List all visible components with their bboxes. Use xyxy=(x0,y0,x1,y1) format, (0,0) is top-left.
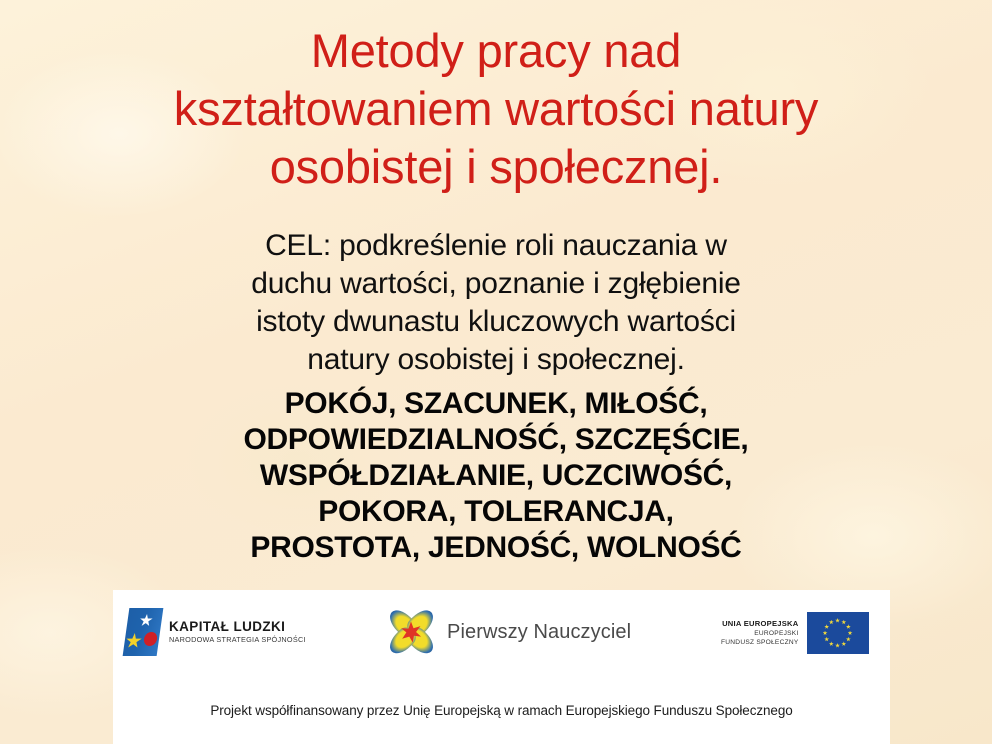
unia-europejska-logo: UNIA EUROPEJSKA EUROPEJSKI FUNDUSZ SPOŁE… xyxy=(721,612,869,654)
eu-flag-icon xyxy=(807,612,869,654)
kapital-ludzki-logo: KAPITAŁ LUDZKI NARODOWA STRATEGIA SPÓJNO… xyxy=(126,608,306,656)
unia-europejska-line-2: EUROPEJSKI xyxy=(721,629,799,638)
eu-star-icon xyxy=(846,637,851,642)
goal-line-1: CEL: podkreślenie roli nauczania w xyxy=(0,227,992,265)
kapital-ludzki-text: KAPITAŁ LUDZKI NARODOWA STRATEGIA SPÓJNO… xyxy=(169,619,306,645)
eu-star-icon xyxy=(841,620,846,625)
unia-europejska-text: UNIA EUROPEJSKA EUROPEJSKI FUNDUSZ SPOŁE… xyxy=(721,619,799,647)
eu-star-icon xyxy=(829,641,834,646)
red-dot-icon xyxy=(143,632,158,646)
values-list: POKÓJ, SZACUNEK, MIŁOŚĆ, ODPOWIEDZIALNOŚ… xyxy=(0,386,992,566)
values-line-5: PROSTOTA, JEDNOŚĆ, WOLNOŚĆ xyxy=(0,530,992,566)
values-line-3: WSPÓŁDZIAŁANIE, UCZCIWOŚĆ, xyxy=(0,458,992,494)
kapital-ludzki-title: KAPITAŁ LUDZKI xyxy=(169,619,306,634)
values-line-1: POKÓJ, SZACUNEK, MIŁOŚĆ, xyxy=(0,386,992,422)
goal-line-2: duchu wartości, poznanie i zgłębienie xyxy=(0,265,992,303)
kapital-ludzki-subtitle: NARODOWA STRATEGIA SPÓJNOŚCI xyxy=(169,635,306,645)
logo-row: KAPITAŁ LUDZKI NARODOWA STRATEGIA SPÓJNO… xyxy=(113,604,890,666)
goal-line-4: natury osobistej i społecznej. xyxy=(0,341,992,379)
goal-line-3: istoty dwunastu kluczowych wartości xyxy=(0,303,992,341)
white-star-icon xyxy=(139,614,154,627)
eu-star-icon xyxy=(835,643,840,648)
eu-star-icon xyxy=(846,624,851,629)
slide-canvas: Metody pracy nad kształtowaniem wartości… xyxy=(0,0,992,744)
title-line-2: kształtowaniem wartości natury xyxy=(0,80,992,138)
page-title: Metody pracy nad kształtowaniem wartości… xyxy=(0,22,992,196)
pierwszy-nauczyciel-label: Pierwszy Nauczyciel xyxy=(447,621,631,644)
eu-star-icon xyxy=(848,631,853,636)
eu-star-icon xyxy=(824,637,829,642)
title-line-1: Metody pracy nad xyxy=(0,22,992,80)
yellow-star-icon xyxy=(125,633,143,649)
flower-icon xyxy=(385,606,437,658)
footer-caption: Projekt współfinansowany przez Unię Euro… xyxy=(113,703,890,718)
kapital-ludzki-flag-icon xyxy=(123,608,164,656)
eu-star-icon xyxy=(824,624,829,629)
unia-europejska-line-3: FUNDUSZ SPOŁECZNY xyxy=(721,638,799,647)
eu-star-icon xyxy=(841,641,846,646)
footer-logo-band: KAPITAŁ LUDZKI NARODOWA STRATEGIA SPÓJNO… xyxy=(113,590,890,744)
eu-star-icon xyxy=(823,631,828,636)
title-line-3: osobistej i społecznej. xyxy=(0,138,992,196)
values-line-4: POKORA, TOLERANCJA, xyxy=(0,494,992,530)
values-line-2: ODPOWIEDZIALNOŚĆ, SZCZĘŚCIE, xyxy=(0,422,992,458)
goal-paragraph: CEL: podkreślenie roli nauczania w duchu… xyxy=(0,227,992,379)
pierwszy-nauczyciel-logo: Pierwszy Nauczyciel xyxy=(385,606,631,658)
eu-star-icon xyxy=(835,618,840,623)
eu-star-icon xyxy=(829,620,834,625)
unia-europejska-line-1: UNIA EUROPEJSKA xyxy=(721,619,799,629)
